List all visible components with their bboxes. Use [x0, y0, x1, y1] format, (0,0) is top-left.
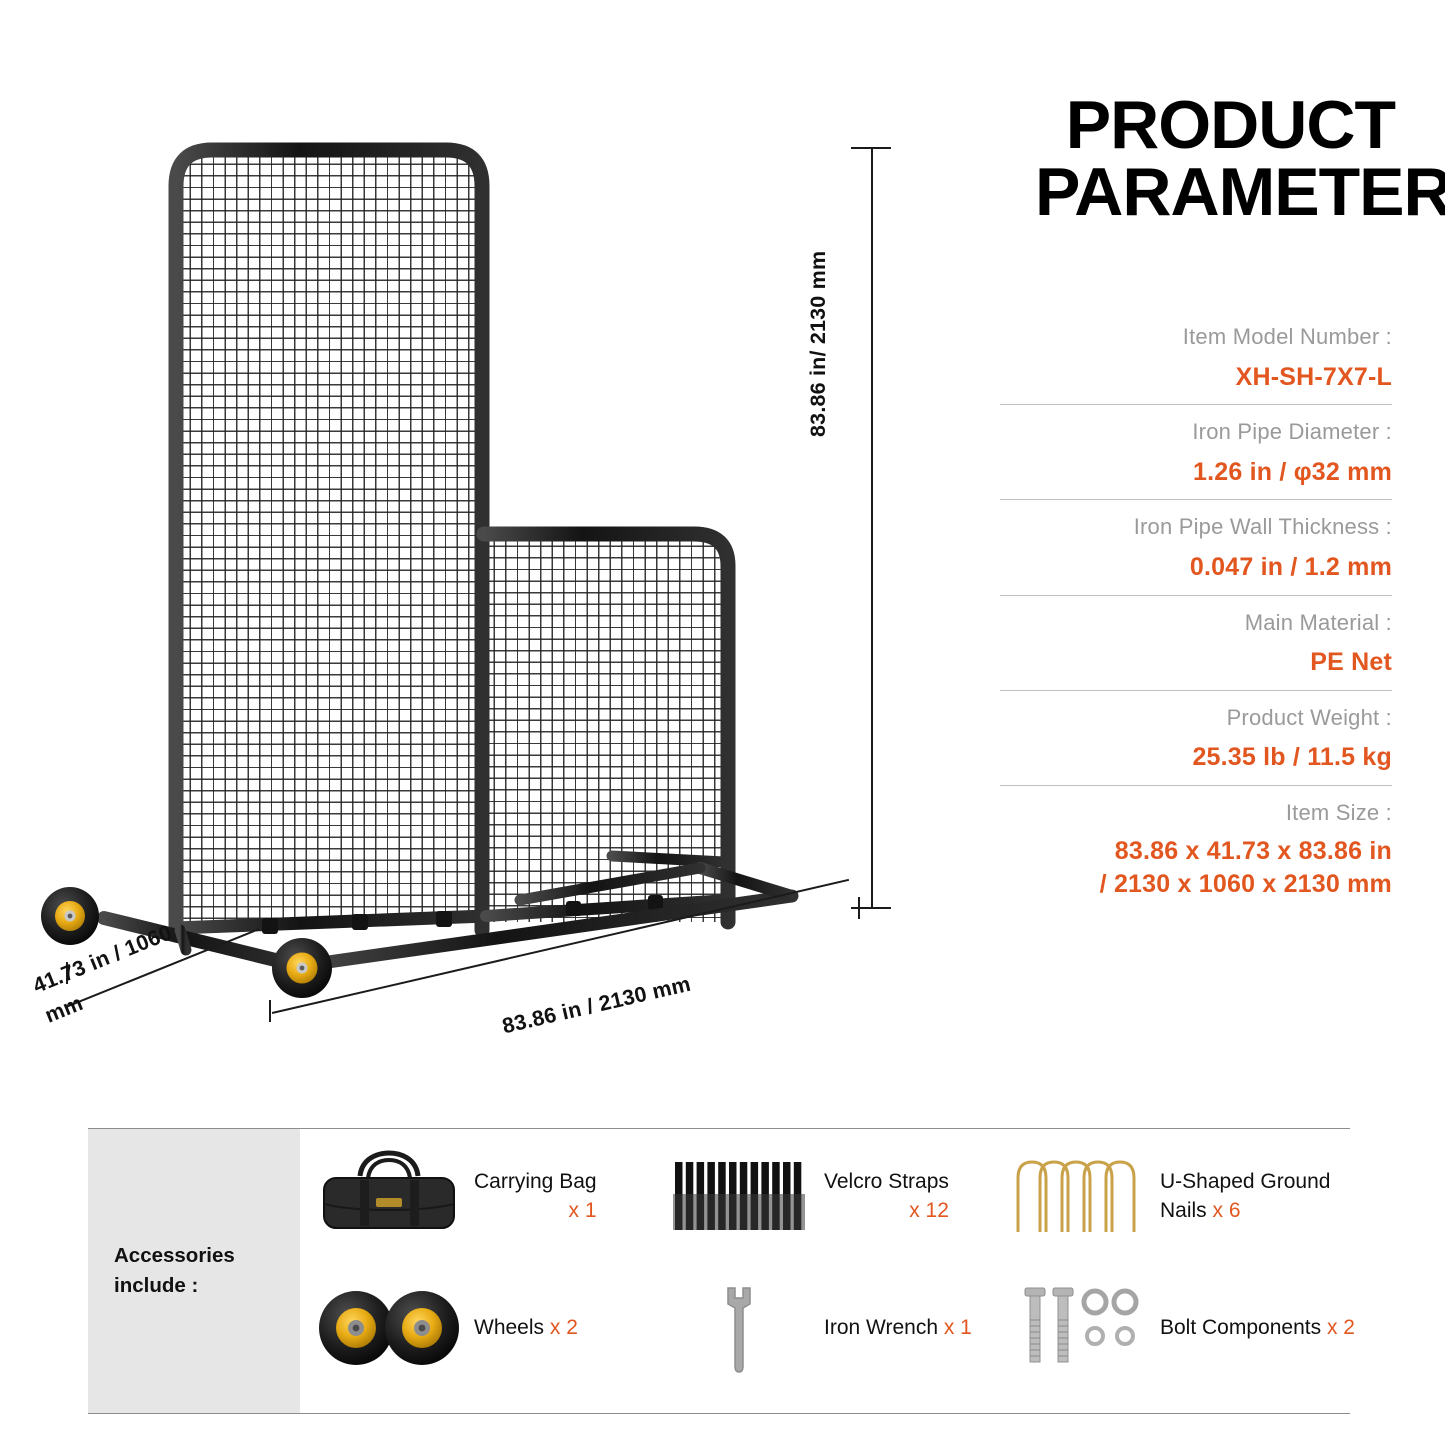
spec-value-main-material: PE Net	[1000, 646, 1392, 680]
spec-row-iron-pipe-wall-thickness: Iron Pipe Wall Thickness : 0.047 in / 1.…	[1000, 499, 1392, 594]
accessories-heading-panel: Accessories include :	[88, 1129, 300, 1413]
spec-label-iron-pipe-diameter: Iron Pipe Diameter :	[1000, 417, 1392, 447]
height-dimension-label: 83.86 in/ 2130 mm	[806, 251, 831, 437]
product-parameters-page: 83.86 in/ 2130 mm 41.73 in / 1060 mm 83.…	[0, 0, 1445, 1445]
accessory-qty-ground-nails: x 6	[1213, 1199, 1241, 1222]
accessory-item-bolt-components: Bolt Components x 2	[1000, 1275, 1355, 1381]
spec-row-item-model-number: Item Model Number : XH-SH-7X7-L	[1000, 322, 1392, 404]
accessories-heading-line1: Accessories	[114, 1244, 235, 1267]
accessory-name-ground-nails-line2: Nails	[1160, 1199, 1207, 1222]
accessory-label-wheels: Wheels x 2	[474, 1313, 578, 1342]
accessory-qty-bolt-components: x 2	[1327, 1316, 1355, 1339]
page-title-line2: PARAMETERS	[1035, 159, 1395, 226]
accessory-qty-velcro-straps: x 12	[909, 1199, 949, 1222]
height-dimension-line	[871, 148, 873, 908]
spec-row-product-weight: Product Weight : 25.35 lb / 11.5 kg	[1000, 690, 1392, 785]
iron-wrench-icon	[664, 1275, 814, 1381]
spec-label-item-size: Item Size :	[1000, 798, 1392, 828]
accessories-section: Accessories include :	[88, 1128, 1350, 1414]
spec-value-item-model-number: XH-SH-7X7-L	[1000, 361, 1392, 395]
accessory-label-carrying-bag: Carrying Bag x 1	[474, 1167, 597, 1226]
depth-dimension-end-cap	[269, 1000, 271, 1022]
spec-label-product-weight: Product Weight :	[1000, 703, 1392, 733]
height-dimension-bottom-cap	[851, 907, 891, 909]
accessories-grid: Carrying Bag x 1	[300, 1129, 1350, 1413]
accessories-bottom-divider	[88, 1413, 1350, 1414]
accessory-label-iron-wrench: Iron Wrench x 1	[824, 1313, 972, 1342]
product-illustration: 83.86 in/ 2130 mm 41.73 in / 1060 mm 83.…	[0, 0, 960, 1080]
wheel-rear	[41, 887, 99, 945]
accessory-item-velcro-straps: Velcro Straps x 12	[664, 1143, 949, 1249]
velcro-straps-icon	[664, 1143, 814, 1249]
spec-row-iron-pipe-diameter: Iron Pipe Diameter : 1.26 in / φ32 mm	[1000, 404, 1392, 499]
l-screen-frame-svg	[0, 0, 960, 1080]
frame-tubes	[104, 150, 792, 966]
spec-row-main-material: Main Material : PE Net	[1000, 595, 1392, 690]
accessory-name-velcro-straps: Velcro Straps	[824, 1170, 949, 1193]
spec-row-item-size: Item Size : 83.86 x 41.73 x 83.86 in / 2…	[1000, 785, 1392, 912]
accessory-qty-wheels: x 2	[550, 1316, 578, 1339]
accessory-label-ground-nails: U-Shaped Ground Nails x 6	[1160, 1167, 1348, 1226]
spec-value-iron-pipe-diameter: 1.26 in / φ32 mm	[1000, 456, 1392, 490]
wheel-front	[272, 938, 332, 998]
carrying-bag-icon	[314, 1143, 464, 1249]
spec-value-product-weight: 25.35 lb / 11.5 kg	[1000, 741, 1392, 775]
page-title: PRODUCT PARAMETERS	[1035, 92, 1395, 225]
u-shaped-ground-nails-icon	[1000, 1143, 1150, 1249]
accessory-name-iron-wrench: Iron Wrench	[824, 1316, 938, 1339]
accessory-name-wheels: Wheels	[474, 1316, 544, 1339]
accessory-label-bolt-components: Bolt Components x 2	[1160, 1313, 1355, 1342]
specification-table: Item Model Number : XH-SH-7X7-L Iron Pip…	[1000, 322, 1392, 912]
height-dimension-top-cap	[851, 147, 891, 149]
accessory-item-carrying-bag: Carrying Bag x 1	[314, 1143, 597, 1249]
page-title-line1: PRODUCT	[1035, 92, 1395, 159]
accessory-label-velcro-straps: Velcro Straps x 12	[824, 1167, 949, 1226]
accessory-item-iron-wrench: Iron Wrench x 1	[664, 1275, 972, 1381]
accessory-qty-iron-wrench: x 1	[944, 1316, 972, 1339]
wheels-icon	[314, 1275, 464, 1381]
spec-value-item-size-line1: 83.86 x 41.73 x 83.86 in	[1000, 835, 1392, 869]
spec-value-item-size: 83.86 x 41.73 x 83.86 in / 2130 x 1060 x…	[1000, 835, 1392, 902]
accessories-heading-line2: include :	[114, 1274, 198, 1297]
spec-label-main-material: Main Material :	[1000, 608, 1392, 638]
spec-label-iron-pipe-wall-thickness: Iron Pipe Wall Thickness :	[1000, 512, 1392, 542]
spec-label-item-model-number: Item Model Number :	[1000, 322, 1392, 352]
spec-value-item-size-line2: / 2130 x 1060 x 2130 mm	[1000, 868, 1392, 902]
accessory-item-wheels: Wheels x 2	[314, 1275, 578, 1381]
accessory-name-bolt-components: Bolt Components	[1160, 1316, 1321, 1339]
width-dimension-end-cap	[858, 897, 860, 919]
accessory-qty-carrying-bag: x 1	[569, 1199, 597, 1222]
bolt-components-icon	[1000, 1275, 1150, 1381]
spec-value-iron-pipe-wall-thickness: 0.047 in / 1.2 mm	[1000, 551, 1392, 585]
accessory-name-ground-nails: U-Shaped Ground	[1160, 1170, 1330, 1193]
accessory-name-carrying-bag: Carrying Bag	[474, 1170, 597, 1193]
accessory-item-ground-nails: U-Shaped Ground Nails x 6	[1000, 1143, 1348, 1249]
